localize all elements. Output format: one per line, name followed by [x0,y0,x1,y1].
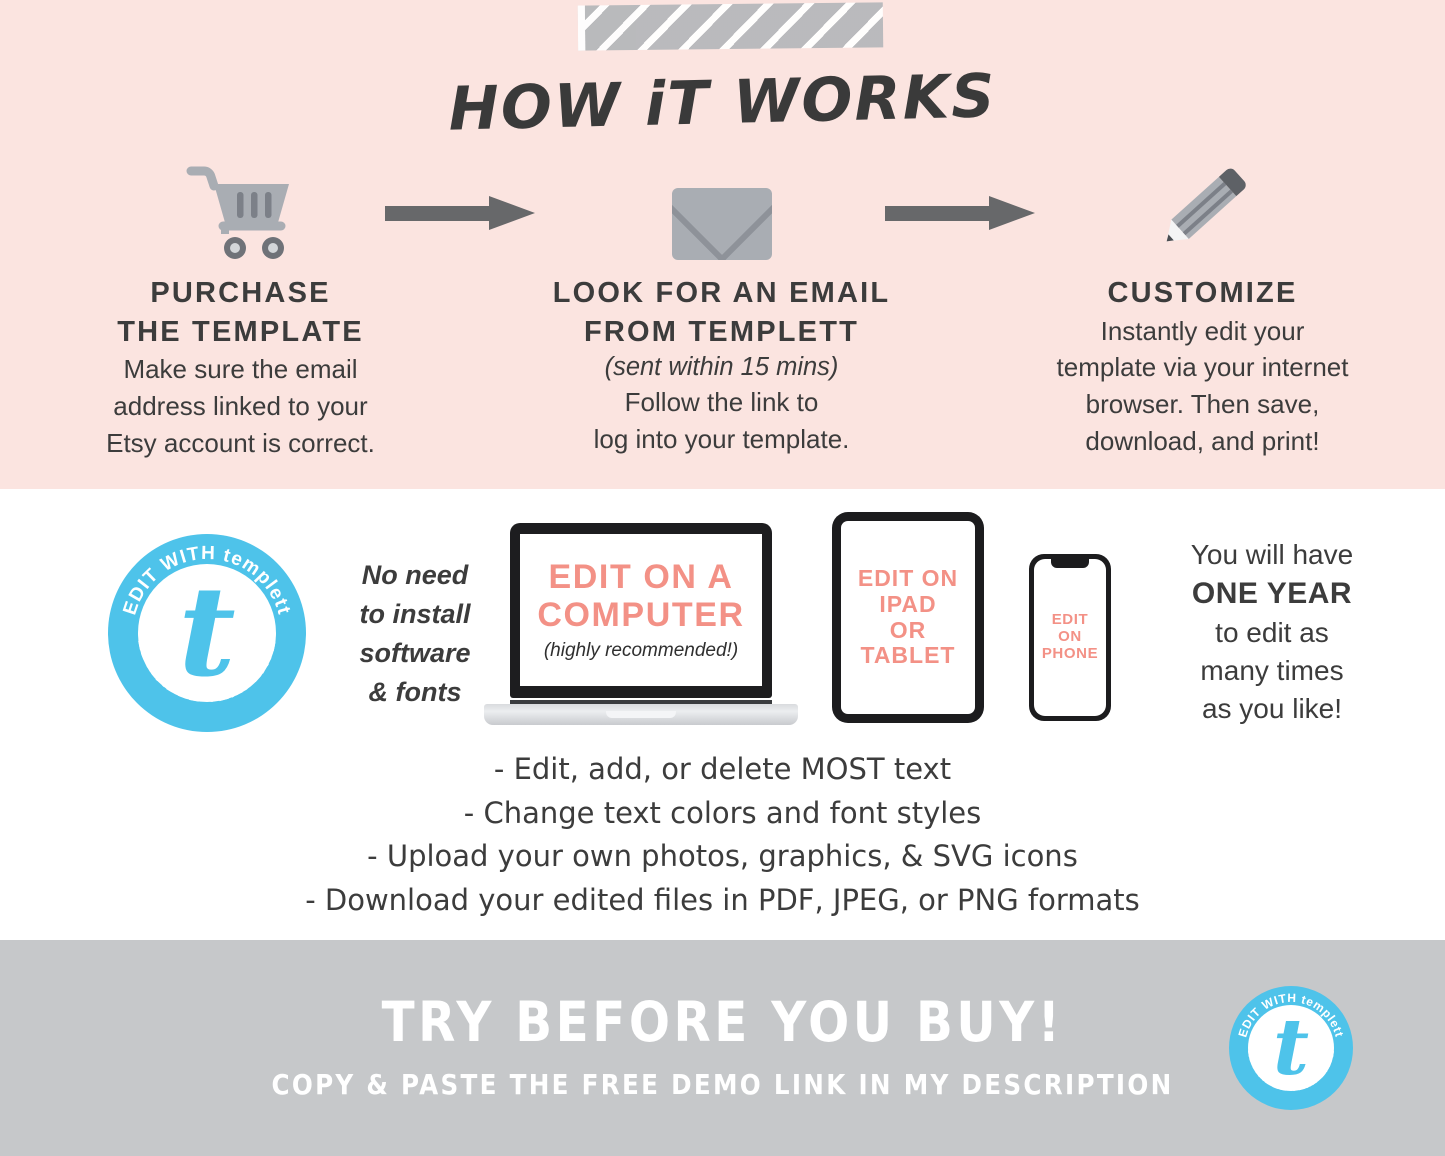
step-body: Make sure the email address linked to yo… [106,351,375,462]
footer-title: TRY BEFORE YOU BUY! [87,990,1359,1054]
phone-notch [1051,559,1089,568]
pencil-icon [1143,160,1263,260]
svg-text:EDIT WITH templett: EDIT WITH templett [119,543,294,618]
envelope-icon [672,188,772,260]
laptop-screen: EDIT ON A COMPUTER (highly recommended!) [520,534,762,686]
step-customize: CUSTOMIZE Instantly edit your template v… [962,150,1443,462]
list-item: - Upload your own photos, graphics, & SV… [0,835,1445,879]
one-year-text: You will have ONE YEAR to edit as many t… [1124,536,1420,728]
step-title: CUSTOMIZE [1107,274,1297,313]
step-icon-container [1143,150,1263,260]
laptop-lid: EDIT ON A COMPUTER (highly recommended!) [510,523,772,698]
feature-bullet-list: - Edit, add, or delete MOST text - Chang… [0,748,1445,922]
badge-curved-text: EDIT WITH templett EDITABLE TEMPLATE [108,534,306,732]
tablet-mockup: EDIT ON IPAD OR TABLET [832,512,984,723]
step-email: LOOK FOR AN EMAIL FROM TEMPLETT (sent wi… [481,150,962,462]
infographic-page: HOW iT WORKS [0,0,1445,1156]
tablet-body: EDIT ON IPAD OR TABLET [832,512,984,723]
templett-badge-footer: t EDIT WITH templett EDITABLE TEMPLATE [1229,986,1353,1110]
badge-top-text: EDIT WITH templett [119,543,294,618]
how-it-works-section: HOW iT WORKS [0,0,1445,489]
footer-subtitle: COPY & PASTE THE FREE DEMO LINK IN MY DE… [87,1068,1359,1101]
step-icon-container [185,150,297,260]
laptop-base [484,704,798,725]
list-item: - Edit, add, or delete MOST text [0,748,1445,792]
svg-text:EDITABLE TEMPLATE: EDITABLE TEMPLATE [1245,1049,1337,1095]
phone-headline: EDIT ON PHONE [1042,612,1098,662]
badge-bottom-text: EDITABLE TEMPLATE [1245,1049,1337,1095]
list-item: - Change text colors and font styles [0,792,1445,836]
badge-bottom-text: EDITABLE TEMPLATE [134,637,280,706]
step-icon-container [672,150,772,260]
laptop-headline: EDIT ON A COMPUTER [537,558,744,634]
step-note: (sent within 15 mins) [605,351,839,384]
washi-tape-icon [578,2,883,50]
one-year-line5: as you like! [1124,690,1420,728]
step-title: LOOK FOR AN EMAIL FROM TEMPLETT [553,274,891,351]
one-year-line3: to edit as [1124,614,1420,652]
one-year-strong: ONE YEAR [1124,574,1420,615]
badge-curved-text: EDIT WITH templett EDITABLE TEMPLATE [1229,986,1353,1110]
tablet-headline: EDIT ON IPAD OR TABLET [858,566,958,669]
shopping-cart-icon [185,164,297,260]
phone-screen: EDIT ON PHONE [1034,559,1106,716]
list-item: - Download your edited files in PDF, JPE… [0,879,1445,923]
templett-badge: t EDIT WITH templett EDITABLE TEMPLATE [108,534,306,732]
one-year-line4: many times [1124,652,1420,690]
laptop-note: (highly recommended!) [544,640,738,662]
badge-top-text: EDIT WITH templett [1235,991,1346,1039]
one-year-line1: You will have [1124,536,1420,574]
steps-row: PURCHASE THE TEMPLATE Make sure the emai… [0,150,1445,462]
page-title: HOW iT WORKS [0,50,1445,155]
phone-body: EDIT ON PHONE [1029,554,1111,721]
step-purchase: PURCHASE THE TEMPLATE Make sure the emai… [0,150,481,462]
step-body: Instantly edit your template via your in… [1057,313,1349,461]
step-body: Follow the link to log into your templat… [594,384,850,458]
step-title: PURCHASE THE TEMPLATE [117,274,364,351]
phone-mockup: EDIT ON PHONE [1029,554,1111,721]
svg-text:EDIT WITH templett: EDIT WITH templett [1235,991,1346,1039]
no-need-text: No need to install software & fonts [330,556,500,713]
tablet-screen: EDIT ON IPAD OR TABLET [841,521,975,714]
svg-text:EDITABLE TEMPLATE: EDITABLE TEMPLATE [134,637,280,706]
laptop-mockup: EDIT ON A COMPUTER (highly recommended!) [484,523,798,725]
